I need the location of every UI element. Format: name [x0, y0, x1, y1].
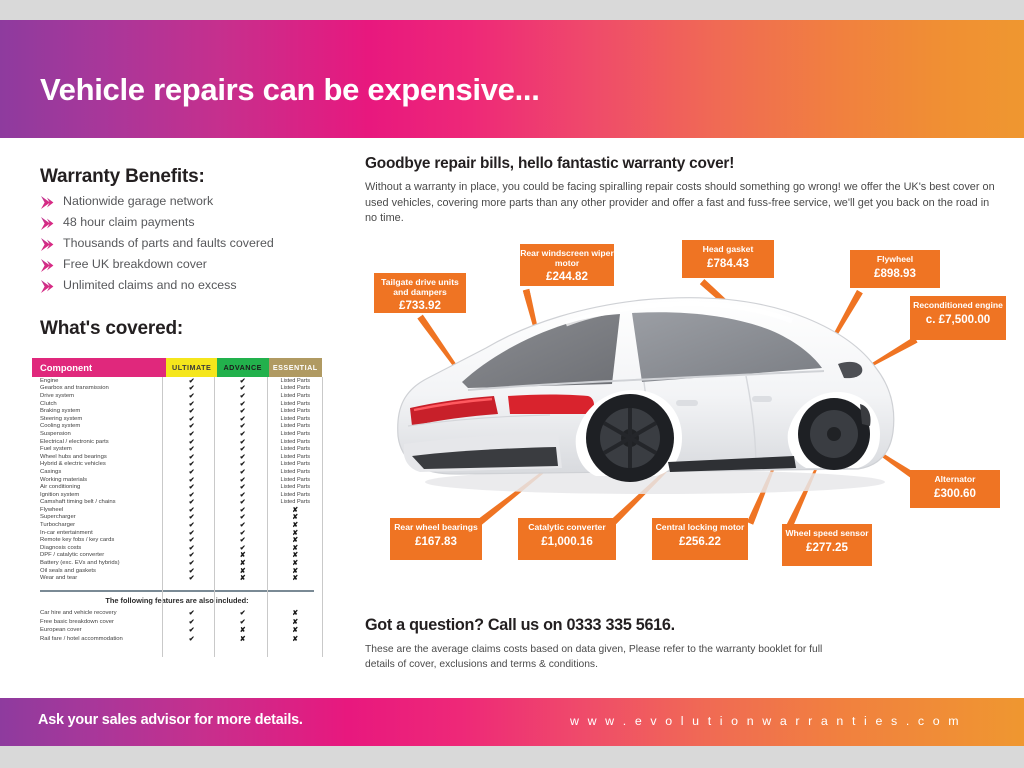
cell-ultimate: ✔ [166, 574, 217, 582]
callout-label: Rear wheel bearings [390, 518, 482, 533]
component-name: Working materials [32, 477, 166, 483]
table-row: Wear and tear✔✘✘ [32, 574, 322, 582]
callout-amount: £733.92 [374, 297, 466, 312]
callout-label: Tailgate drive units and dampers [374, 273, 466, 297]
cost-callout: Alternator£300.60 [910, 470, 1000, 508]
cell-advance: ✘ [217, 626, 269, 634]
bottom-margin-strip [0, 746, 1024, 768]
extras-row: Free basic breakdown cover✔✔✘ [32, 618, 322, 627]
cell-essential: ✘ [269, 609, 322, 617]
cell-essential: Listed Parts [269, 393, 322, 399]
callout-label: Wheel speed sensor [782, 524, 872, 539]
cell-advance: ✔ [217, 609, 269, 617]
callout-amount: £277.25 [782, 539, 872, 554]
cost-callout: Central locking motor£256.22 [652, 518, 748, 560]
component-name: Casings [32, 469, 166, 475]
table-body: Engine✔✔Listed PartsGearbox and transmis… [32, 377, 322, 582]
left-panel: Warranty Benefits: Nationwide garage net… [0, 138, 340, 698]
benefit-label: 48 hour claim payments [63, 215, 195, 229]
chevron-right-icon [40, 238, 54, 251]
extra-feature-name: Car hire and vehicle recovery [32, 610, 166, 616]
component-name: Air conditioning [32, 484, 166, 490]
extras-row: European cover✔✘✘ [32, 626, 322, 635]
callout-label: Reconditioned engine [910, 296, 1006, 311]
column-header-essential: ESSENTIAL [269, 358, 322, 377]
chevron-right-icon [40, 259, 54, 272]
cell-ultimate: ✔ [166, 626, 217, 634]
column-header-ultimate: ULTIMATE [166, 358, 217, 377]
footer-website-url[interactable]: w w w . e v o l u t i o n w a r r a n t … [570, 714, 961, 728]
component-name: DPF / catalytic converter [32, 552, 166, 558]
cost-callout: Reconditioned enginec. £7,500.00 [910, 296, 1006, 340]
table-header-row: Component ULTIMATE ADVANCE ESSENTIAL [32, 358, 322, 377]
callout-amount: £244.82 [520, 268, 614, 283]
infographic-page: Vehicle repairs can be expensive... Warr… [0, 0, 1024, 768]
table-column-divider [322, 377, 323, 657]
benefit-label: Thousands of parts and faults covered [63, 236, 274, 250]
cost-callout: Head gasket£784.43 [682, 240, 774, 278]
callout-amount: £898.93 [850, 265, 940, 280]
benefit-item: 48 hour claim payments [40, 214, 330, 235]
coverage-table: Component ULTIMATE ADVANCE ESSENTIAL Eng… [32, 358, 322, 582]
component-name: Turbocharger [32, 522, 166, 528]
top-margin-strip [0, 0, 1024, 20]
cost-callout: Tailgate drive units and dampers£733.92 [374, 273, 466, 313]
benefits-list: Nationwide garage network48 hour claim p… [40, 193, 330, 298]
callout-amount: c. £7,500.00 [910, 311, 1006, 326]
table-column-divider [214, 377, 215, 657]
cell-ultimate: ✔ [166, 609, 217, 617]
callout-amount: £300.60 [910, 485, 1000, 500]
cell-essential: ✘ [269, 626, 322, 634]
callout-label: Central locking motor [652, 518, 748, 533]
component-name: Clutch [32, 401, 166, 407]
column-header-advance: ADVANCE [217, 358, 269, 377]
callout-label: Catalytic converter [518, 518, 616, 533]
extra-feature-name: Free basic breakdown cover [32, 619, 166, 625]
cell-essential: Listed Parts [269, 484, 322, 490]
component-name: Oil seals and gaskets [32, 568, 166, 574]
table-column-divider [162, 377, 163, 657]
component-name: Electrical / electronic parts [32, 439, 166, 445]
cell-essential: Listed Parts [269, 423, 322, 429]
table-divider [40, 590, 314, 591]
chevron-right-icon [40, 196, 54, 209]
callout-amount: £256.22 [652, 533, 748, 548]
callout-label: Alternator [910, 470, 1000, 485]
cell-essential: Listed Parts [269, 401, 322, 407]
component-name: Steering system [32, 416, 166, 422]
benefit-item: Free UK breakdown cover [40, 256, 330, 277]
benefit-label: Free UK breakdown cover [63, 257, 207, 271]
extras-rows: Car hire and vehicle recovery✔✔✘Free bas… [32, 609, 322, 643]
cell-essential: Listed Parts [269, 408, 322, 414]
benefit-label: Nationwide garage network [63, 194, 213, 208]
cell-ultimate: ✔ [166, 618, 217, 626]
right-panel: Goodbye repair bills, hello fantastic wa… [340, 138, 1024, 698]
component-name: Fuel system [32, 446, 166, 452]
component-name: Ignition system [32, 492, 166, 498]
extras-row: Rail fare / hotel accommodation✔✘✘ [32, 635, 322, 644]
component-name: Engine [32, 378, 166, 384]
column-header-component: Component [32, 358, 166, 377]
component-name: Cooling system [32, 423, 166, 429]
header-banner: Vehicle repairs can be expensive... [0, 20, 1024, 138]
cell-essential: ✘ [269, 635, 322, 643]
extras-heading: The following features are also included… [32, 596, 322, 605]
component-name: Flywheel [32, 507, 166, 513]
benefit-item: Nationwide garage network [40, 193, 330, 214]
benefit-item: Unlimited claims and no excess [40, 277, 330, 298]
cell-ultimate: ✔ [166, 635, 217, 643]
extra-feature-name: Rail fare / hotel accommodation [32, 636, 166, 642]
component-name: Diagnosis costs [32, 545, 166, 551]
cell-essential: Listed Parts [269, 385, 322, 391]
main-heading: Goodbye repair bills, hello fantastic wa… [365, 155, 734, 173]
component-name: Wheel hubs and bearings [32, 454, 166, 460]
car-diagram: Tailgate drive units and dampers£733.92R… [350, 248, 1024, 628]
component-name: Gearbox and transmission [32, 385, 166, 391]
extra-feature-name: European cover [32, 627, 166, 633]
cell-essential: ✘ [269, 618, 322, 626]
component-name: Supercharger [32, 514, 166, 520]
component-name: Battery (exc. EVs and hybrids) [32, 560, 166, 566]
cost-callout: Rear wheel bearings£167.83 [390, 518, 482, 560]
cell-essential: Listed Parts [269, 446, 322, 452]
cell-essential: Listed Parts [269, 469, 322, 475]
component-name: Braking system [32, 408, 166, 414]
component-name: Camshaft timing belt / chains [32, 499, 166, 505]
extras-row: Car hire and vehicle recovery✔✔✘ [32, 609, 322, 618]
whats-covered-heading: What's covered: [40, 318, 183, 340]
component-name: In-car entertainment [32, 530, 166, 536]
cell-essential: Listed Parts [269, 416, 322, 422]
callout-label: Flywheel [850, 250, 940, 265]
cell-advance: ✔ [217, 618, 269, 626]
cell-essential: Listed Parts [269, 499, 322, 505]
intro-paragraph: Without a warranty in place, you could b… [365, 180, 997, 227]
chevron-right-icon [40, 280, 54, 293]
cell-essential: Listed Parts [269, 492, 322, 498]
benefit-item: Thousands of parts and faults covered [40, 235, 330, 256]
component-name: Hybrid & electric vehicles [32, 461, 166, 467]
cell-advance: ✘ [217, 635, 269, 643]
component-name: Drive system [32, 393, 166, 399]
cta-heading: Got a question? Call us on 0333 335 5616… [365, 616, 675, 635]
disclaimer-text: These are the average claims costs based… [365, 642, 835, 672]
cost-callout: Flywheel£898.93 [850, 250, 940, 288]
callout-label: Head gasket [682, 240, 774, 255]
cell-essential: Listed Parts [269, 454, 322, 460]
page-title: Vehicle repairs can be expensive... [40, 72, 540, 108]
component-name: Remote key fobs / key cards [32, 537, 166, 543]
cell-essential: Listed Parts [269, 378, 322, 384]
table-column-divider [267, 377, 268, 657]
callout-amount: £167.83 [390, 533, 482, 548]
cost-callout: Rear windscreen wiper motor£244.82 [520, 244, 614, 286]
cell-essential: Listed Parts [269, 461, 322, 467]
cell-essential: Listed Parts [269, 431, 322, 437]
footer-cta-text: Ask your sales advisor for more details. [38, 712, 303, 728]
benefit-label: Unlimited claims and no excess [63, 278, 237, 292]
cost-callout: Catalytic converter£1,000.16 [518, 518, 616, 560]
component-name: Suspension [32, 431, 166, 437]
callout-label: Rear windscreen wiper motor [520, 244, 614, 268]
car-illustration [390, 286, 910, 501]
cost-callout: Wheel speed sensor£277.25 [782, 524, 872, 566]
callout-amount: £1,000.16 [518, 533, 616, 548]
callout-amount: £784.43 [682, 255, 774, 270]
cell-essential: Listed Parts [269, 477, 322, 483]
chevron-right-icon [40, 217, 54, 230]
component-name: Wear and tear [32, 575, 166, 581]
footer-banner: Ask your sales advisor for more details.… [0, 698, 1024, 746]
cell-advance: ✘ [217, 574, 269, 582]
warranty-benefits-heading: Warranty Benefits: [40, 166, 205, 188]
cell-essential: Listed Parts [269, 439, 322, 445]
cell-essential: ✘ [269, 574, 322, 582]
